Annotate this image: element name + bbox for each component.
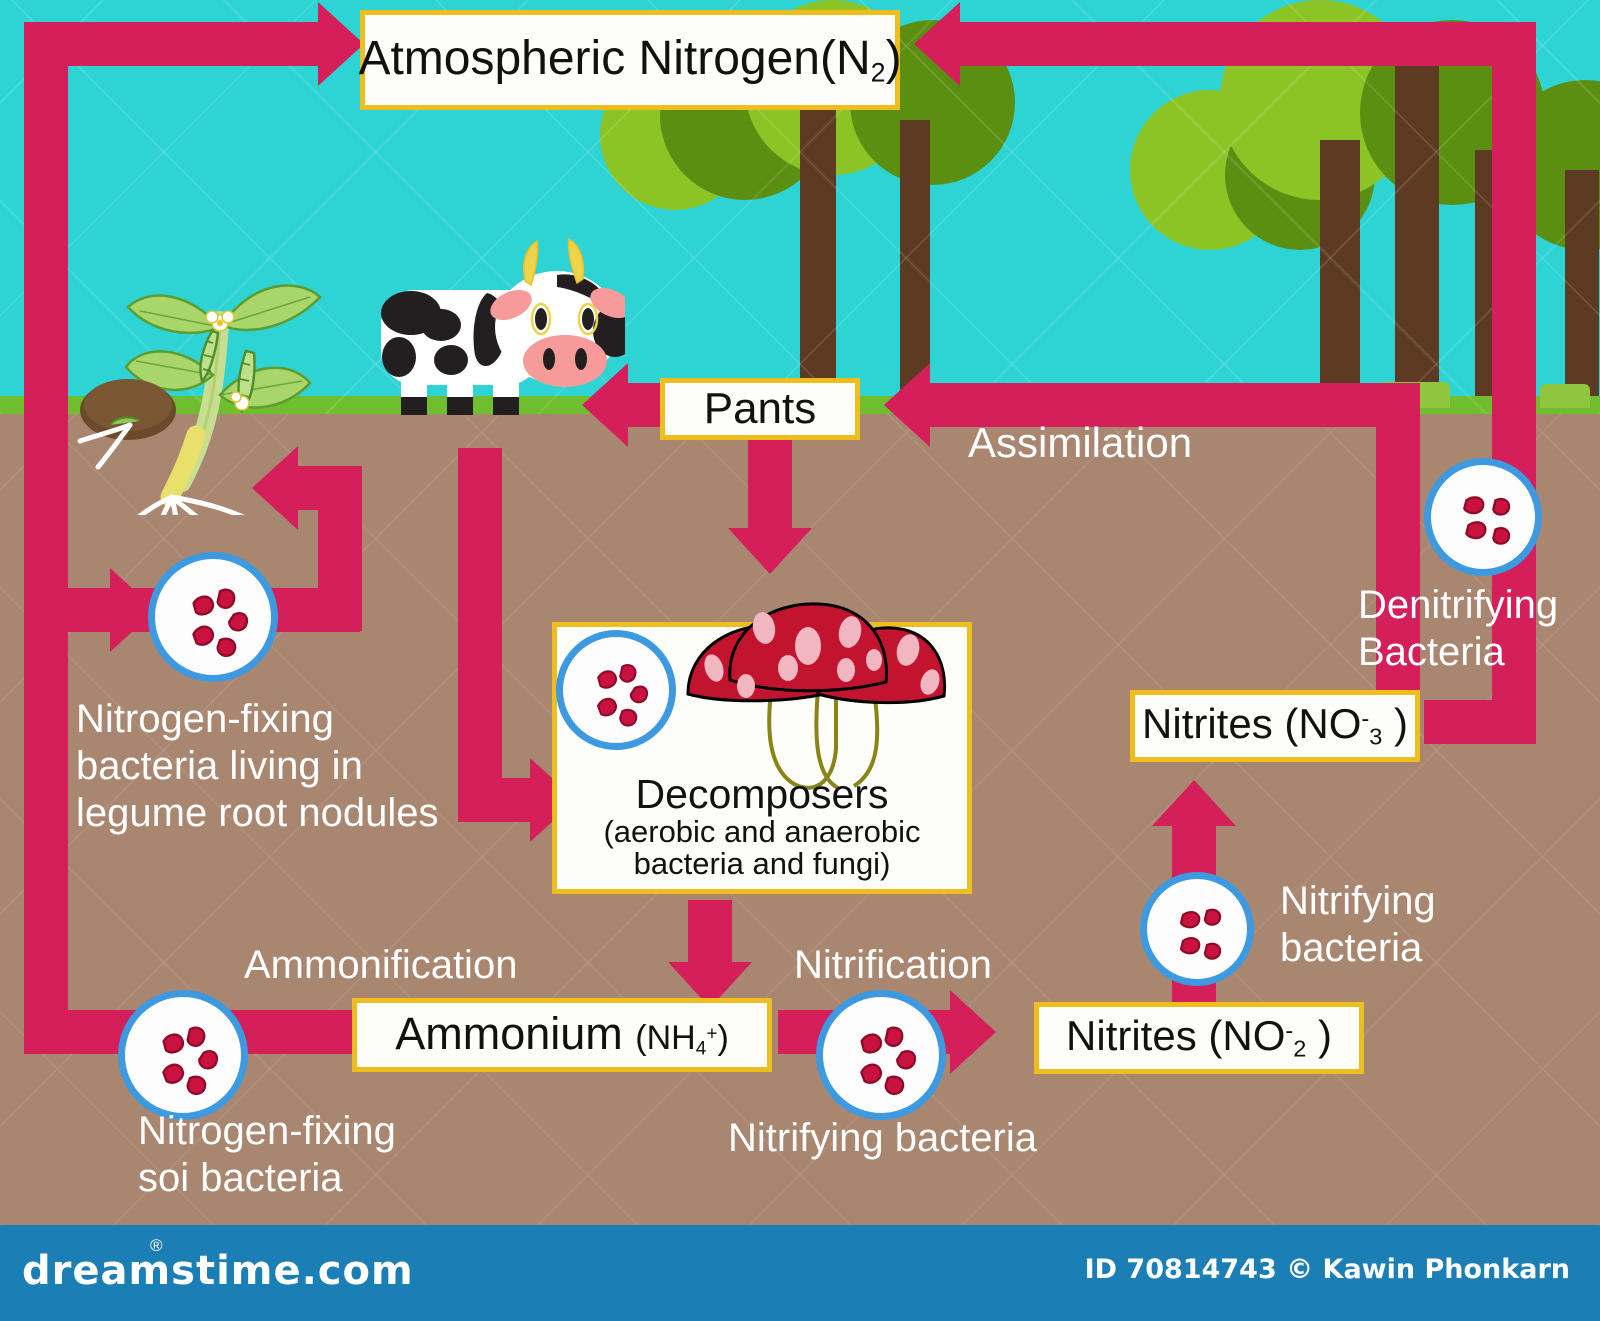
arrow-cow-to-decomposers-vertical xyxy=(458,448,502,788)
denitrifying-bacteria-line-2: Bacteria xyxy=(1358,629,1558,676)
denitrifying-bacteria-line-1: Denitrifying xyxy=(1358,582,1558,629)
arrow-soil-to-atmosphere-vertical xyxy=(24,22,68,1052)
dreamstime-logo: dreamstime.com xyxy=(22,1248,414,1294)
no2-subscript: 2 xyxy=(1293,1036,1306,1062)
image-credit-text: ID 70814743 © Kawin Phonkarn xyxy=(1085,1254,1570,1285)
arrow-ammonification-bar xyxy=(688,900,732,970)
arrow-head-nitrification xyxy=(950,990,996,1074)
plants-box[interactable]: Pants xyxy=(660,378,860,440)
denitrifying-bacteria-label: Denitrifying Bacteria xyxy=(1358,582,1558,676)
bacteria-circle-icon xyxy=(118,990,248,1120)
bacteria-circle-icon xyxy=(1424,458,1542,576)
decomposers-subtitle-2: bacteria and fungi) xyxy=(634,848,891,881)
nitrifying-bacteria-right-line-1: Nitrifying xyxy=(1280,878,1436,925)
arrow-head-plants-to-decomposers xyxy=(728,528,812,574)
nitrification-label: Nitrification xyxy=(794,942,992,989)
nitrifying-bacteria-bottom-label: Nitrifying bacteria xyxy=(728,1115,1037,1162)
no3-subscript: 3 xyxy=(1369,724,1382,750)
ammonification-label: Ammonification xyxy=(244,942,517,989)
decomposers-subtitle-1: (aerobic and anaerobic xyxy=(603,816,920,849)
nitrates-label: Nitrites (NO-3 ) xyxy=(1142,702,1408,749)
bacteria-glyphs xyxy=(125,997,241,1113)
nitrites-box[interactable]: Nitrites (NO-2 ) xyxy=(1034,1002,1364,1074)
arrow-nodule-to-root-top xyxy=(290,466,362,510)
grass-tuft xyxy=(1540,384,1590,408)
bacteria-circle-icon xyxy=(556,630,676,750)
atmospheric-nitrogen-box[interactable]: Atmospheric Nitrogen(N2) xyxy=(360,10,900,110)
arrow-head-assimilation xyxy=(884,363,930,447)
nfix-legume-line-2: bacteria living in xyxy=(76,743,438,790)
nfix-soil-line-1: Nitrogen-fixing xyxy=(138,1108,396,1155)
bacteria-glyphs xyxy=(563,637,669,743)
arrow-head-plants-to-cow xyxy=(582,363,628,447)
bacteria-circle-icon xyxy=(816,990,946,1120)
bacteria-circle-icon xyxy=(1140,872,1254,986)
bacteria-glyphs xyxy=(155,559,271,675)
nitrogen-cycle-diagram: Atmospheric Nitrogen(N2) Pants Decompose… xyxy=(0,0,1600,1321)
arrow-denitrification-top xyxy=(960,22,1536,66)
bacteria-glyphs xyxy=(1431,465,1535,569)
atmospheric-nitrogen-label: Atmospheric Nitrogen(N2) xyxy=(358,34,901,87)
n2-subscript: 2 xyxy=(871,57,886,87)
ammonium-box[interactable]: Ammonium (NH4+) xyxy=(352,998,772,1072)
nitrogen-fixing-legume-label: Nitrogen-fixing bacteria living in legum… xyxy=(76,696,438,838)
arrow-head-to-atmospheric-nitrogen xyxy=(318,2,364,86)
bacteria-glyphs xyxy=(1147,879,1247,979)
nh4-subscript: 4 xyxy=(696,1039,707,1060)
bacteria-circle-icon xyxy=(148,552,278,682)
registered-mark-icon: ® xyxy=(150,1236,163,1256)
arrow-head-denitrification-to-atmosphere xyxy=(914,2,960,86)
arrow-head-nitrite-to-nitrate xyxy=(1152,780,1236,826)
nh4-superscript: + xyxy=(706,1024,717,1045)
bacteria-glyphs xyxy=(823,997,939,1113)
nitrifying-bacteria-right-line-2: bacteria xyxy=(1280,925,1436,972)
nitrates-box[interactable]: Nitrites (NO-3 ) xyxy=(1130,690,1420,762)
arrow-head-into-roots xyxy=(252,446,298,530)
decomposers-title: Decomposers xyxy=(636,773,889,816)
nfix-soil-line-2: soi bacteria xyxy=(138,1155,396,1202)
nfix-legume-line-1: Nitrogen-fixing xyxy=(76,696,438,743)
nfix-legume-line-3: legume root nodules xyxy=(76,790,438,837)
nitrites-label: Nitrites (NO-2 ) xyxy=(1066,1014,1332,1061)
plants-label: Pants xyxy=(704,386,817,432)
nitrogen-fixing-soil-label: Nitrogen-fixing soi bacteria xyxy=(138,1108,396,1202)
ammonium-label: Ammonium (NH4+) xyxy=(395,1010,729,1059)
arrow-plants-to-decomposers-bar xyxy=(748,432,792,532)
arrow-soil-to-atmosphere-top xyxy=(24,22,324,66)
assimilation-label: Assimilation xyxy=(968,418,1192,468)
nitrifying-bacteria-right-label: Nitrifying bacteria xyxy=(1280,878,1436,972)
